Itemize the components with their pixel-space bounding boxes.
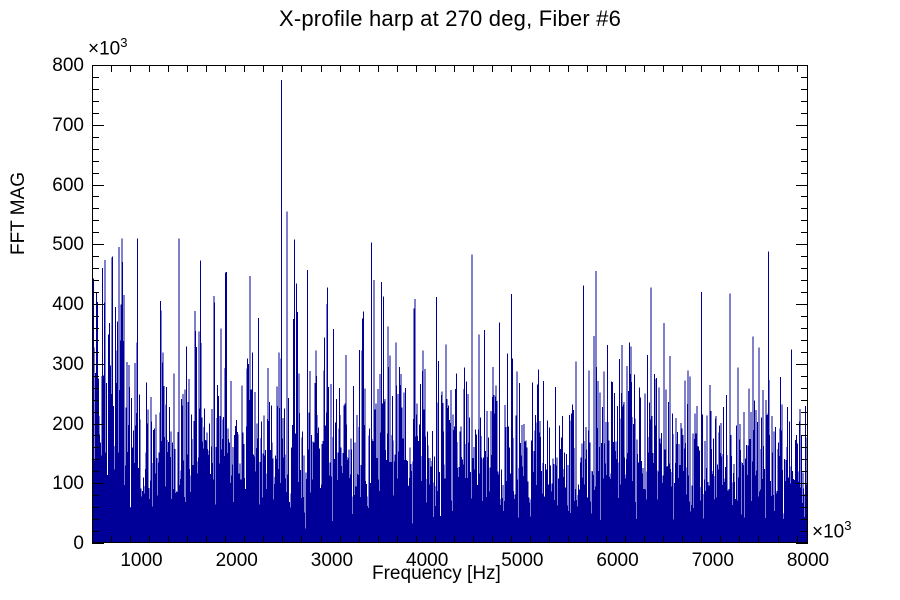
y-tick-label: 600 [4,176,84,195]
y-minor-tick [92,388,99,389]
y-minor-tick-right [801,459,808,460]
x-minor-tick-top [758,65,759,72]
y-minor-tick [92,447,99,448]
x-minor-tick-top [511,65,512,72]
plot-area [92,65,808,543]
x-minor-tick [378,536,379,543]
x-minor-tick-top [282,65,283,72]
x-minor-tick [549,536,550,543]
x-minor-tick [111,536,112,543]
x-minor-tick-top [644,65,645,72]
y-minor-tick [92,495,99,496]
y-minor-tick-right [801,531,808,532]
y-major-tick [92,65,104,66]
y-minor-tick-right [801,232,808,233]
x-minor-tick-top [606,65,607,72]
y-major-tick [92,244,104,245]
x-minor-tick [492,536,493,543]
y-major-tick-right [796,543,808,544]
y-minor-tick-right [801,208,808,209]
x-minor-tick-top [530,65,531,72]
x-minor-tick [682,536,683,543]
y-minor-tick-right [801,447,808,448]
x-minor-tick [758,536,759,543]
y-minor-tick-right [801,113,808,114]
x-minor-tick-top [663,65,664,72]
y-minor-tick [92,77,99,78]
x-minor-tick [587,536,588,543]
y-axis-exponent: ×103 [88,35,127,60]
x-minor-tick [187,536,188,543]
x-minor-tick [625,536,626,543]
y-major-tick-right [796,125,808,126]
x-minor-tick-top [92,65,93,72]
y-minor-tick [92,459,99,460]
y-minor-tick-right [801,173,808,174]
x-minor-tick [454,536,455,543]
y-tick-label: 700 [4,116,84,135]
x-minor-tick-top [263,65,264,72]
y-minor-tick [92,507,99,508]
y-minor-tick-right [801,149,808,150]
x-tick-label: 1000 [92,551,192,570]
x-minor-tick-top [720,65,721,72]
x-minor-tick [206,536,207,543]
x-minor-tick-top [206,65,207,72]
y-minor-tick-right [801,400,808,401]
y-major-tick-right [796,244,808,245]
x-minor-tick-top [244,65,245,72]
x-minor-tick-top [568,65,569,72]
x-minor-tick [301,536,302,543]
y-minor-tick [92,101,99,102]
y-minor-tick [92,316,99,317]
y-minor-tick-right [801,435,808,436]
x-minor-tick-top [187,65,188,72]
y-minor-tick-right [801,89,808,90]
x-minor-tick-top [549,65,550,72]
x-minor-tick [416,536,417,543]
x-minor-tick [225,536,226,543]
x-minor-tick-top [225,65,226,72]
x-minor-tick [701,536,702,543]
y-minor-tick [92,280,99,281]
y-tick-label: 0 [4,534,84,553]
y-tick-label: 500 [4,235,84,254]
x-minor-tick [720,536,721,543]
y-minor-tick-right [801,412,808,413]
y-minor-tick [92,531,99,532]
y-axis-exponent-base: ×10 [88,38,120,59]
y-minor-tick-right [801,352,808,353]
x-minor-tick-top [473,65,474,72]
x-minor-tick [511,536,512,543]
y-minor-tick-right [801,328,808,329]
y-minor-tick [92,268,99,269]
x-minor-tick-top [435,65,436,72]
x-tick-label: 2000 [187,551,287,570]
y-minor-tick-right [801,471,808,472]
y-minor-tick [92,89,99,90]
y-minor-tick [92,149,99,150]
x-minor-tick-top [492,65,493,72]
x-minor-tick-top [111,65,112,72]
x-minor-tick [397,536,398,543]
y-minor-tick-right [801,137,808,138]
y-minor-tick-right [801,77,808,78]
x-minor-tick [473,536,474,543]
y-minor-tick-right [801,161,808,162]
y-minor-tick [92,328,99,329]
y-minor-tick [92,256,99,257]
fft-spectrum-series [92,65,808,543]
y-major-tick [92,364,104,365]
y-minor-tick [92,400,99,401]
y-minor-tick [92,137,99,138]
y-minor-tick-right [801,101,808,102]
x-tick-label: 8000 [758,551,858,570]
x-tick-label: 6000 [568,551,668,570]
x-minor-tick [340,536,341,543]
x-minor-tick-top [739,65,740,72]
x-minor-tick-top [340,65,341,72]
x-minor-tick [92,536,93,543]
x-minor-tick [568,536,569,543]
x-minor-tick [149,536,150,543]
x-minor-tick [263,536,264,543]
x-minor-tick-top [301,65,302,72]
x-axis-exponent-base: ×10 [812,521,844,542]
x-minor-tick [644,536,645,543]
root-plot-canvas: X-profile harp at 270 deg, Fiber #6 ×103… [0,0,900,600]
x-axis-exponent-power: 3 [844,518,851,533]
y-tick-label: 200 [4,415,84,434]
x-minor-tick-top [359,65,360,72]
y-tick-label: 100 [4,474,84,493]
x-minor-tick-top [416,65,417,72]
x-minor-tick-top [778,65,779,72]
x-minor-tick-top [168,65,169,72]
x-tick-label: 7000 [663,551,763,570]
x-minor-tick-top [701,65,702,72]
y-minor-tick [92,435,99,436]
x-minor-tick-top [625,65,626,72]
y-minor-tick-right [801,196,808,197]
y-major-tick-right [796,483,808,484]
x-minor-tick-top [130,65,131,72]
y-minor-tick [92,232,99,233]
y-minor-tick-right [801,519,808,520]
y-minor-tick-right [801,220,808,221]
y-minor-tick [92,292,99,293]
y-minor-tick [92,173,99,174]
y-major-tick-right [796,364,808,365]
x-minor-tick-top [397,65,398,72]
y-minor-tick-right [801,256,808,257]
x-minor-tick [130,536,131,543]
y-minor-tick [92,471,99,472]
y-minor-tick [92,208,99,209]
y-major-tick [92,125,104,126]
x-minor-tick [530,536,531,543]
y-tick-label: 300 [4,355,84,374]
x-tick-label: 5000 [472,551,572,570]
y-tick-label: 400 [4,295,84,314]
x-minor-tick-top [149,65,150,72]
x-minor-tick [606,536,607,543]
y-minor-tick [92,220,99,221]
y-minor-tick-right [801,292,808,293]
y-minor-tick-right [801,268,808,269]
y-major-tick-right [796,424,808,425]
x-axis-exponent: ×103 [812,518,851,543]
y-major-tick-right [796,65,808,66]
y-major-tick [92,304,104,305]
x-minor-tick [778,536,779,543]
y-minor-tick-right [801,376,808,377]
x-minor-tick [321,536,322,543]
y-major-tick-right [796,185,808,186]
y-minor-tick-right [801,340,808,341]
x-minor-tick [663,536,664,543]
y-major-tick [92,185,104,186]
y-axis-exponent-power: 3 [120,35,127,50]
x-minor-tick [739,536,740,543]
x-minor-tick-top [378,65,379,72]
y-minor-tick [92,196,99,197]
y-major-tick [92,483,104,484]
y-minor-tick [92,352,99,353]
x-minor-tick-top [454,65,455,72]
y-major-tick [92,424,104,425]
x-minor-tick [282,536,283,543]
y-minor-tick-right [801,388,808,389]
y-minor-tick-right [801,507,808,508]
x-minor-tick [435,536,436,543]
y-minor-tick [92,161,99,162]
x-tick-label: 4000 [377,551,477,570]
x-minor-tick [168,536,169,543]
x-minor-tick [359,536,360,543]
y-tick-label: 800 [4,56,84,75]
x-tick-label: 3000 [282,551,382,570]
x-minor-tick-top [587,65,588,72]
x-minor-tick-top [797,65,798,72]
y-minor-tick-right [801,316,808,317]
y-minor-tick [92,376,99,377]
y-minor-tick-right [801,280,808,281]
page-title: X-profile harp at 270 deg, Fiber #6 [0,6,900,32]
y-minor-tick [92,340,99,341]
y-minor-tick [92,113,99,114]
y-major-tick [92,543,104,544]
x-minor-tick-top [321,65,322,72]
y-major-tick-right [796,304,808,305]
y-minor-tick-right [801,495,808,496]
x-minor-tick-top [682,65,683,72]
y-minor-tick [92,519,99,520]
y-minor-tick [92,412,99,413]
x-minor-tick [244,536,245,543]
x-minor-tick [797,536,798,543]
